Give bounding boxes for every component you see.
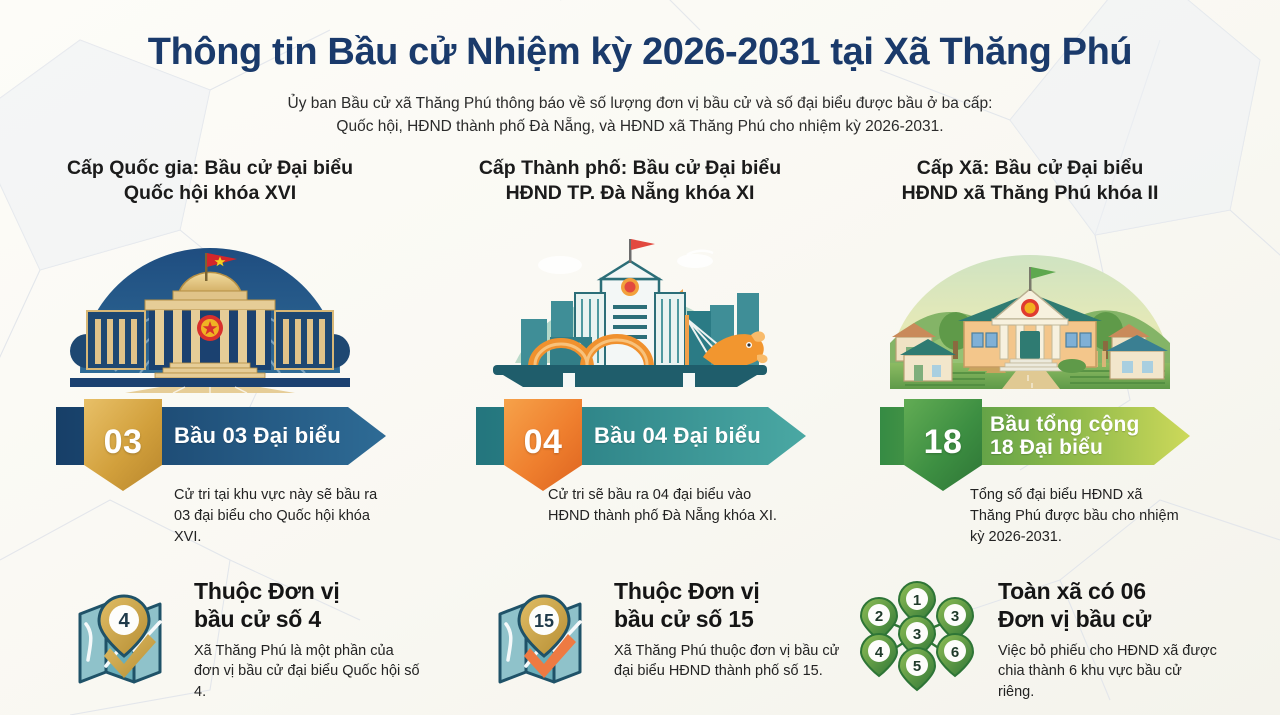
column-commune-badge: 18 Bầu tổng cộng 18 Đại biểu bbox=[840, 399, 1220, 471]
pin-number-3: 3 bbox=[951, 608, 959, 625]
heading-line-1: Cấp Xã: Bầu cử Đại biểu bbox=[840, 156, 1220, 181]
heading-line-2: HĐND xã Thăng Phú khóa II bbox=[840, 181, 1220, 206]
bottom-item-description: Xã Thăng Phú thuộc đơn vị bầu cử đại biể… bbox=[614, 641, 840, 682]
pin-number-1: 1 bbox=[913, 592, 921, 609]
banner-label-commune: Bầu tổng cộng 18 Đại biểu bbox=[990, 413, 1140, 460]
pin-number-center: 3 bbox=[913, 626, 921, 643]
header: Thông tin Bầu cử Nhiệm kỳ 2026-2031 tại … bbox=[0, 0, 1280, 138]
bottom-item-title: Thuộc Đơn vị bầu cử số 15 bbox=[614, 578, 840, 633]
pin-number-6: 6 bbox=[951, 644, 959, 661]
banner-national: 03 Bầu 03 Đại biểu bbox=[56, 407, 386, 465]
map-pin-marker-icon: 4 bbox=[70, 568, 178, 688]
map-pin-marker-icon: 15 bbox=[490, 568, 598, 688]
number-national: 03 bbox=[84, 413, 162, 471]
danang-city-skyline-icon bbox=[420, 218, 840, 393]
column-commune-heading: Cấp Xã: Bầu cử Đại biểu HĐND xã Thăng Ph… bbox=[840, 156, 1220, 212]
title-line-2: bầu cử số 15 bbox=[614, 606, 840, 634]
pin-number-2: 2 bbox=[875, 608, 883, 625]
bottom-item-unit-4: 4 Thuộc Đơn vị bầu cử số 4 Xã Thăng Phú … bbox=[0, 568, 420, 702]
six-pin-network-icon: 1 2 3 3 bbox=[852, 568, 982, 688]
bottom-item-six-units-text: Toàn xã có 06 Đơn vị bầu cử Việc bỏ phiế… bbox=[998, 568, 1220, 702]
title-line-1: Toàn xã có 06 bbox=[998, 578, 1220, 606]
bottom-item-description: Việc bỏ phiếu cho HĐND xã được chia thàn… bbox=[998, 641, 1220, 703]
column-city-badge: 04 Bầu 04 Đại biểu bbox=[420, 399, 840, 471]
subtitle-line-1: Ủy ban Bầu cử xã Thăng Phú thông báo về … bbox=[0, 92, 1280, 115]
title-line-1: Thuộc Đơn vị bbox=[194, 578, 420, 606]
subtitle-line-2: Quốc hội, HĐND thành phố Đà Nẵng, và HĐN… bbox=[0, 115, 1280, 138]
banner-line-1: Bầu tổng cộng bbox=[990, 413, 1140, 437]
bottom-item-unit-15-text: Thuộc Đơn vị bầu cử số 15 Xã Thăng Phú t… bbox=[614, 568, 840, 702]
pin-number-label: 15 bbox=[534, 611, 554, 631]
banner-line-1: Bầu 04 Đại biểu bbox=[594, 424, 761, 449]
column-national: Cấp Quốc gia: Bầu cử Đại biểu Quốc hội k… bbox=[0, 156, 420, 548]
title-line-2: Đơn vị bầu cử bbox=[998, 606, 1220, 634]
pin-number-4: 4 bbox=[875, 644, 884, 661]
heading-line-1: Cấp Quốc gia: Bầu cử Đại biểu bbox=[0, 156, 420, 181]
bottom-item-six-units: 1 2 3 3 bbox=[840, 568, 1220, 702]
commune-hall-village-icon bbox=[840, 218, 1220, 393]
column-commune-description: Tổng số đại biểu HĐND xã Thăng Phú được … bbox=[970, 485, 1185, 548]
banner-label-city: Bầu 04 Đại biểu bbox=[594, 424, 761, 449]
title-line-1: Thuộc Đơn vị bbox=[614, 578, 840, 606]
column-national-description: Cử tri tại khu vực này sẽ bầu ra 03 đại … bbox=[174, 485, 389, 548]
banner-commune: 18 Bầu tổng cộng 18 Đại biểu bbox=[880, 407, 1190, 465]
title-line-2: bầu cử số 4 bbox=[194, 606, 420, 634]
banner-city: 04 Bầu 04 Đại biểu bbox=[476, 407, 806, 465]
bottom-item-unit-4-text: Thuộc Đơn vị bầu cử số 4 Xã Thăng Phú là… bbox=[194, 568, 420, 702]
infographic-page: Thông tin Bầu cử Nhiệm kỳ 2026-2031 tại … bbox=[0, 0, 1280, 715]
bottom-item-unit-15: 15 Thuộc Đơn vị bầu cử số 15 Xã Thăng Ph… bbox=[420, 568, 840, 702]
national-assembly-building-icon bbox=[0, 218, 420, 393]
pin-number-5: 5 bbox=[913, 658, 921, 675]
column-city-heading: Cấp Thành phố: Bầu cử Đại biểu HĐND TP. … bbox=[420, 156, 840, 212]
banner-label-national: Bầu 03 Đại biểu bbox=[174, 424, 341, 449]
page-title: Thông tin Bầu cử Nhiệm kỳ 2026-2031 tại … bbox=[0, 32, 1280, 74]
pin-number-label: 4 bbox=[118, 610, 130, 632]
column-city-description: Cử tri sẽ bầu ra 04 đại biểu vào HĐND th… bbox=[548, 485, 780, 527]
bottom-item-title: Thuộc Đơn vị bầu cử số 4 bbox=[194, 578, 420, 633]
banner-line-1: Bầu 03 Đại biểu bbox=[174, 424, 341, 449]
column-city: Cấp Thành phố: Bầu cử Đại biểu HĐND TP. … bbox=[420, 156, 840, 548]
bottom-row: 4 Thuộc Đơn vị bầu cử số 4 Xã Thăng Phú … bbox=[0, 568, 1280, 702]
column-national-heading: Cấp Quốc gia: Bầu cử Đại biểu Quốc hội k… bbox=[0, 156, 420, 212]
columns-row: Cấp Quốc gia: Bầu cử Đại biểu Quốc hội k… bbox=[0, 156, 1280, 548]
page-subtitle: Ủy ban Bầu cử xã Thăng Phú thông báo về … bbox=[0, 92, 1280, 139]
column-commune: Cấp Xã: Bầu cử Đại biểu HĐND xã Thăng Ph… bbox=[840, 156, 1220, 548]
number-city: 04 bbox=[504, 413, 582, 471]
number-commune: 18 bbox=[904, 413, 982, 471]
heading-line-1: Cấp Thành phố: Bầu cử Đại biểu bbox=[420, 156, 840, 181]
heading-line-2: Quốc hội khóa XVI bbox=[0, 181, 420, 206]
bottom-item-description: Xã Thăng Phú là một phần của đơn vị bầu … bbox=[194, 641, 420, 703]
banner-line-2: 18 Đại biểu bbox=[990, 436, 1140, 460]
bottom-item-title: Toàn xã có 06 Đơn vị bầu cử bbox=[998, 578, 1220, 633]
heading-line-2: HĐND TP. Đà Nẵng khóa XI bbox=[420, 181, 840, 206]
column-national-badge: 03 Bầu 03 Đại biểu bbox=[0, 399, 420, 471]
